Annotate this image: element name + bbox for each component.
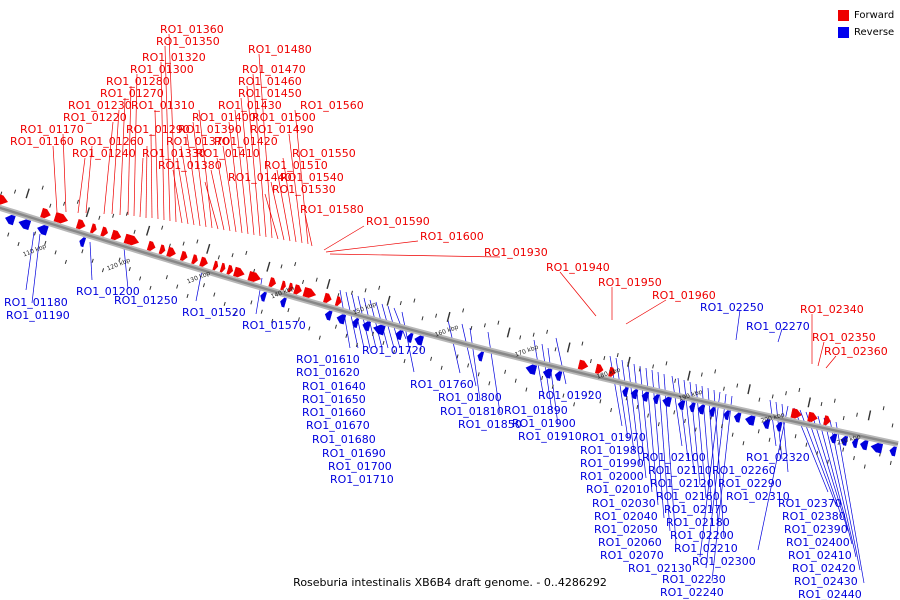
gene-label-forward[interactable]: RO1_01460 — [238, 76, 302, 87]
gene-label-forward[interactable]: RO1_01430 — [218, 100, 282, 111]
gene-label-reverse[interactable]: RO1_02410 — [788, 550, 852, 561]
gene-label-reverse[interactable]: RO1_02420 — [792, 563, 856, 574]
gene-label-reverse[interactable]: RO1_01620 — [296, 367, 360, 378]
gene-label-reverse[interactable]: RO1_01920 — [538, 390, 602, 401]
gene-label-reverse[interactable]: RO1_02160 — [656, 491, 720, 502]
strand-legend: Forward Reverse — [838, 8, 894, 42]
gene-label-forward[interactable]: RO1_01960 — [652, 290, 716, 301]
gene-label-forward[interactable]: RO1_01560 — [300, 100, 364, 111]
gene-label-forward[interactable]: RO1_01360 — [160, 24, 224, 35]
gene-label-forward[interactable]: RO1_01400 — [192, 112, 256, 123]
gene-label-reverse[interactable]: RO1_01810 — [440, 406, 504, 417]
gene-label-reverse[interactable]: RO1_01910 — [518, 431, 582, 442]
legend-label-reverse: Reverse — [854, 27, 894, 38]
gene-label-forward[interactable]: RO1_01930 — [484, 247, 548, 258]
gene-label-reverse[interactable]: RO1_02040 — [594, 511, 658, 522]
gene-label-reverse[interactable]: RO1_01710 — [330, 474, 394, 485]
gene-label-reverse[interactable]: RO1_01660 — [302, 407, 366, 418]
gene-label-forward[interactable]: RO1_01950 — [598, 277, 662, 288]
gene-label-forward[interactable]: RO1_01530 — [272, 184, 336, 195]
gene-label-reverse[interactable]: RO1_01900 — [512, 418, 576, 429]
gene-label-reverse[interactable]: RO1_01800 — [438, 392, 502, 403]
gene-label-forward[interactable]: RO1_01580 — [300, 204, 364, 215]
gene-label-reverse[interactable]: RO1_02050 — [594, 524, 658, 535]
gene-label-forward[interactable]: RO1_01270 — [100, 88, 164, 99]
gene-label-reverse[interactable]: RO1_01650 — [302, 394, 366, 405]
gene-label-reverse[interactable]: RO1_01890 — [504, 405, 568, 416]
gene-label-forward[interactable]: RO1_01300 — [130, 64, 194, 75]
gene-label-forward[interactable]: RO1_01380 — [158, 160, 222, 171]
gene-label-reverse[interactable]: RO1_02170 — [664, 504, 728, 515]
gene-label-reverse[interactable]: RO1_02250 — [700, 302, 764, 313]
forward-swatch-icon — [838, 10, 849, 21]
gene-label-forward[interactable]: RO1_02340 — [800, 304, 864, 315]
legend-label-forward: Forward — [854, 10, 894, 21]
gene-label-forward[interactable]: RO1_01350 — [156, 36, 220, 47]
legend-row-reverse: Reverse — [838, 25, 894, 39]
gene-label-reverse[interactable]: RO1_02290 — [718, 478, 782, 489]
gene-label-forward[interactable]: RO1_01280 — [106, 76, 170, 87]
gene-label-reverse[interactable]: RO1_01520 — [182, 307, 246, 318]
gene-label-reverse[interactable]: RO1_02180 — [666, 517, 730, 528]
gene-label-reverse[interactable]: RO1_01970 — [582, 432, 646, 443]
gene-label-forward[interactable]: RO1_01420 — [214, 136, 278, 147]
gene-label-reverse[interactable]: RO1_02100 — [642, 452, 706, 463]
gene-label-reverse[interactable]: RO1_02440 — [798, 589, 862, 600]
gene-label-reverse[interactable]: RO1_02390 — [784, 524, 848, 535]
gene-label-forward[interactable]: RO1_01450 — [238, 88, 302, 99]
genome-map-viewport: 110 kbp120 kbp130 kbp140 kbp150 kbp160 k… — [0, 0, 900, 600]
gene-label-forward[interactable]: RO1_01480 — [248, 44, 312, 55]
gene-label-reverse[interactable]: RO1_01680 — [312, 434, 376, 445]
gene-label-forward[interactable]: RO1_01310 — [131, 100, 195, 111]
gene-label-forward[interactable]: RO1_01600 — [420, 231, 484, 242]
gene-label-forward[interactable]: RO1_01410 — [196, 148, 260, 159]
gene-label-reverse[interactable]: RO1_01180 — [4, 297, 68, 308]
gene-label-reverse[interactable]: RO1_01990 — [580, 458, 644, 469]
gene-label-reverse[interactable]: RO1_01690 — [322, 448, 386, 459]
gene-label-reverse[interactable]: RO1_01980 — [580, 445, 644, 456]
gene-label-forward[interactable]: RO1_01500 — [252, 112, 316, 123]
gene-label-forward[interactable]: RO1_01550 — [292, 148, 356, 159]
gene-label-forward[interactable]: RO1_02360 — [824, 346, 888, 357]
leader-lines-forward — [53, 34, 836, 368]
gene-label-forward[interactable]: RO1_01540 — [280, 172, 344, 183]
gene-label-reverse[interactable]: RO1_01720 — [362, 345, 426, 356]
gene-label-reverse[interactable]: RO1_02380 — [782, 511, 846, 522]
gene-label-forward[interactable]: RO1_01160 — [10, 136, 74, 147]
gene-label-reverse[interactable]: RO1_02300 — [692, 556, 756, 567]
gene-label-forward[interactable]: RO1_01510 — [264, 160, 328, 171]
gene-label-reverse[interactable]: RO1_02060 — [598, 537, 662, 548]
gene-label-forward[interactable]: RO1_01240 — [72, 148, 136, 159]
gene-label-reverse[interactable]: RO1_01570 — [242, 320, 306, 331]
gene-label-forward[interactable]: RO1_01490 — [250, 124, 314, 135]
legend-row-forward: Forward — [838, 8, 894, 22]
gene-label-reverse[interactable]: RO1_02400 — [786, 537, 850, 548]
gene-label-reverse[interactable]: RO1_01640 — [302, 381, 366, 392]
gene-label-reverse[interactable]: RO1_02210 — [674, 543, 738, 554]
gene-label-forward[interactable]: RO1_01470 — [242, 64, 306, 75]
gene-label-forward[interactable]: RO1_01320 — [142, 52, 206, 63]
genome-title: Roseburia intestinalis XB6B4 draft genom… — [0, 576, 900, 589]
gene-label-reverse[interactable]: RO1_02030 — [592, 498, 656, 509]
gene-label-forward[interactable]: RO1_01390 — [178, 124, 242, 135]
gene-label-reverse[interactable]: RO1_01610 — [296, 354, 360, 365]
gene-label-forward[interactable]: RO1_01590 — [366, 216, 430, 227]
gene-label-forward[interactable]: RO1_02350 — [812, 332, 876, 343]
gene-label-reverse[interactable]: RO1_01250 — [114, 295, 178, 306]
reverse-swatch-icon — [838, 27, 849, 38]
gene-label-reverse[interactable]: RO1_02000 — [580, 471, 644, 482]
gene-label-reverse[interactable]: RO1_01700 — [328, 461, 392, 472]
gene-label-reverse[interactable]: RO1_02110 — [648, 465, 712, 476]
gene-label-reverse[interactable]: RO1_02010 — [586, 484, 650, 495]
gene-label-forward[interactable]: RO1_01220 — [63, 112, 127, 123]
gene-label-forward[interactable]: RO1_01230 — [68, 100, 132, 111]
gene-label-reverse[interactable]: RO1_02320 — [746, 452, 810, 463]
gene-label-reverse[interactable]: RO1_02370 — [778, 498, 842, 509]
gene-label-reverse[interactable]: RO1_02270 — [746, 321, 810, 332]
gene-label-reverse[interactable]: RO1_01670 — [306, 420, 370, 431]
gene-label-reverse[interactable]: RO1_02070 — [600, 550, 664, 561]
gene-label-forward[interactable]: RO1_01260 — [80, 136, 144, 147]
gene-label-reverse[interactable]: RO1_01760 — [410, 379, 474, 390]
gene-label-reverse[interactable]: RO1_02120 — [650, 478, 714, 489]
gene-label-reverse[interactable]: RO1_02260 — [712, 465, 776, 476]
gene-label-forward[interactable]: RO1_01170 — [20, 124, 84, 135]
gene-label-forward[interactable]: RO1_01940 — [546, 262, 610, 273]
gene-label-reverse[interactable]: RO1_01190 — [6, 310, 70, 321]
gene-label-reverse[interactable]: RO1_02200 — [670, 530, 734, 541]
